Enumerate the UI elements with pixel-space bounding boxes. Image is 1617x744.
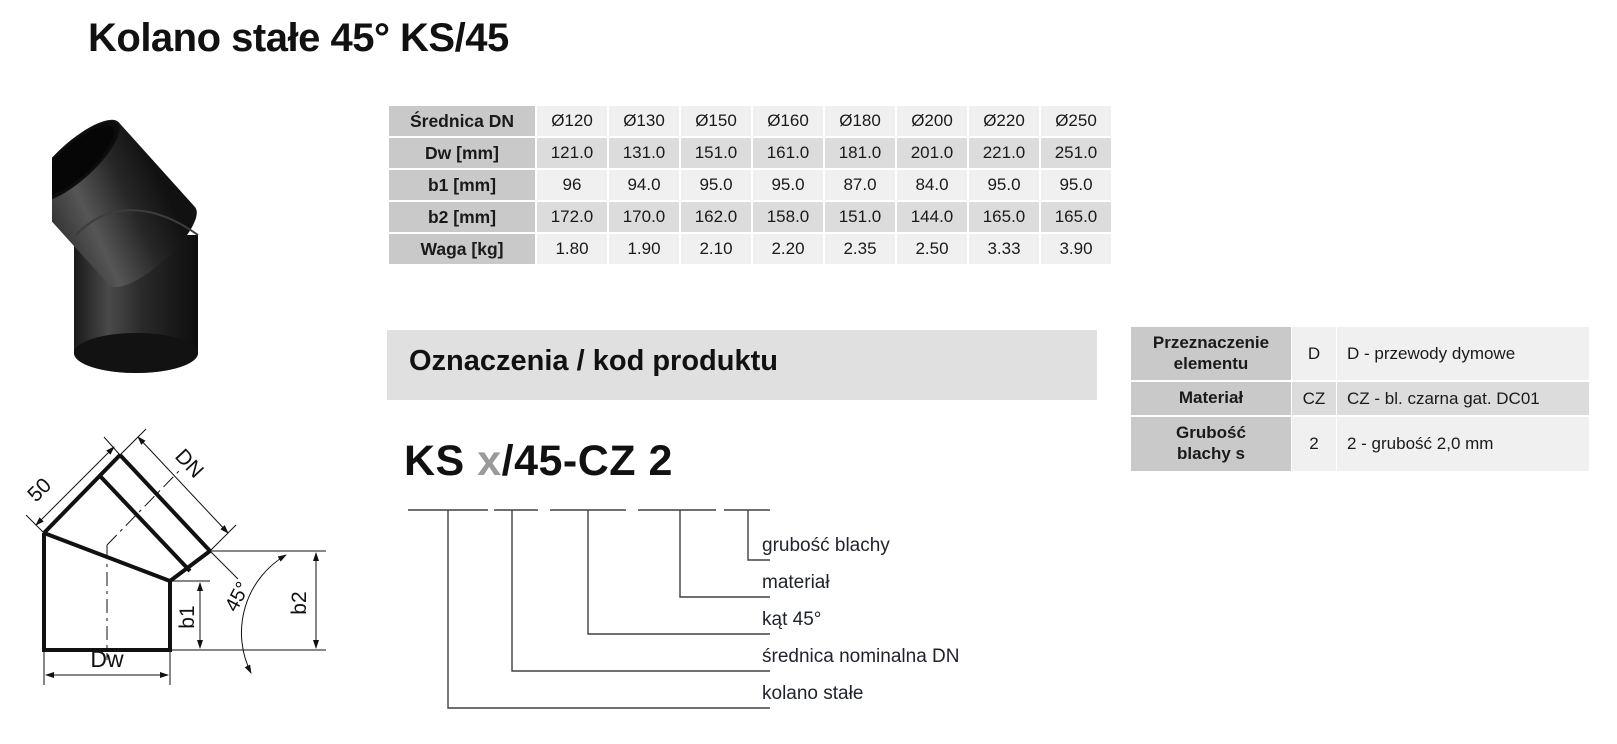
cell-waga-3: 2.20 xyxy=(753,234,823,264)
code-dash: - xyxy=(563,437,578,485)
callout-label-material: materiał xyxy=(762,572,830,594)
table-row: Materiał CZ CZ - bl. czarna gat. DC01 xyxy=(1131,382,1589,415)
legend-label-line1: Materiał xyxy=(1137,388,1285,409)
cell-waga-4: 2.35 xyxy=(825,234,895,264)
cell-dw-1: 131.0 xyxy=(609,138,679,168)
cell-b2-4: 151.0 xyxy=(825,202,895,232)
legend-code-2: 2 xyxy=(1292,417,1336,470)
technical-drawing: 50 DN b1 b2 xyxy=(14,385,359,690)
dim-label-50: 50 xyxy=(23,474,56,507)
cell-srednica-3: Ø160 xyxy=(753,106,823,136)
cell-b1-1: 94.0 xyxy=(609,170,679,200)
cell-waga-1: 1.90 xyxy=(609,234,679,264)
cell-dw-6: 221.0 xyxy=(969,138,1039,168)
cell-b2-3: 158.0 xyxy=(753,202,823,232)
code-variable: x xyxy=(477,437,501,485)
row-label-srednica: Średnica DN xyxy=(389,106,535,136)
row-label-dw: Dw [mm] xyxy=(389,138,535,168)
cell-b1-3: 95.0 xyxy=(753,170,823,200)
callout-leader-lines xyxy=(408,510,770,708)
oznaczenia-heading: Oznaczenia / kod produktu xyxy=(409,345,778,378)
elbow-graphic xyxy=(52,108,208,373)
legend-label-line2: blachy s xyxy=(1137,444,1285,465)
cell-waga-0: 1.80 xyxy=(537,234,607,264)
table-row: b1 [mm] 96 94.0 95.0 95.0 87.0 84.0 95.0… xyxy=(389,170,1111,200)
legend-label-grubosc: Grubość blachy s xyxy=(1131,417,1291,470)
callout-label-kolano-stale: kolano stałe xyxy=(762,683,863,705)
cell-srednica-2: Ø150 xyxy=(681,106,751,136)
page-title: Kolano stałe 45° KS/45 xyxy=(88,16,509,61)
row-label-b2: b2 [mm] xyxy=(389,202,535,232)
row-label-waga: Waga [kg] xyxy=(389,234,535,264)
callout-label-grubosc-blachy: grubość blachy xyxy=(762,535,890,557)
dim-label-b1: b1 xyxy=(176,605,199,628)
cell-dw-7: 251.0 xyxy=(1041,138,1111,168)
dimension-angle xyxy=(210,551,286,673)
legend-label-material: Materiał xyxy=(1131,382,1291,415)
code-material: CZ xyxy=(578,437,636,485)
table-row: Średnica DN Ø120 Ø130 Ø150 Ø160 Ø180 Ø20… xyxy=(389,106,1111,136)
cell-b2-1: 170.0 xyxy=(609,202,679,232)
product-photo xyxy=(52,95,342,385)
legend-code-d: D xyxy=(1292,327,1336,380)
cell-b1-4: 87.0 xyxy=(825,170,895,200)
callout-label-srednica-nominalna: średnica nominalna DN xyxy=(762,646,960,668)
product-code: KS x/45-CZ 2 xyxy=(404,437,673,486)
cell-b1-2: 95.0 xyxy=(681,170,751,200)
legend-label-line1: Grubość xyxy=(1137,423,1285,444)
dimension-dn xyxy=(120,429,236,551)
cell-b2-5: 144.0 xyxy=(897,202,967,232)
code-thickness: 2 xyxy=(649,437,673,485)
code-angle: 45 xyxy=(514,437,563,485)
cell-srednica-0: Ø120 xyxy=(537,106,607,136)
legend-desc-cz: CZ - bl. czarna gat. DC01 xyxy=(1337,382,1589,415)
table-row: b2 [mm] 172.0 170.0 162.0 158.0 151.0 14… xyxy=(389,202,1111,232)
cell-b1-5: 84.0 xyxy=(897,170,967,200)
cell-b2-7: 165.0 xyxy=(1041,202,1111,232)
cell-srednica-6: Ø220 xyxy=(969,106,1039,136)
cell-dw-5: 201.0 xyxy=(897,138,967,168)
legend-label-przeznaczenie: Przeznaczenie elementu xyxy=(1131,327,1291,380)
cell-waga-2: 2.10 xyxy=(681,234,751,264)
row-label-b1: b1 [mm] xyxy=(389,170,535,200)
cell-srednica-4: Ø180 xyxy=(825,106,895,136)
code-prefix: KS xyxy=(404,437,465,485)
table-row: Waga [kg] 1.80 1.90 2.10 2.20 2.35 2.50 … xyxy=(389,234,1111,264)
callout-label-kat-45: kąt 45° xyxy=(762,609,821,631)
dim-label-b2: b2 xyxy=(288,591,311,614)
cell-dw-0: 121.0 xyxy=(537,138,607,168)
legend-table: Przeznaczenie elementu D D - przewody dy… xyxy=(1130,325,1590,473)
cell-waga-5: 2.50 xyxy=(897,234,967,264)
cell-srednica-5: Ø200 xyxy=(897,106,967,136)
dim-label-angle: 45° xyxy=(221,578,255,615)
cell-srednica-7: Ø250 xyxy=(1041,106,1111,136)
cell-b1-6: 95.0 xyxy=(969,170,1039,200)
cell-waga-7: 3.90 xyxy=(1041,234,1111,264)
cell-waga-6: 3.33 xyxy=(969,234,1039,264)
cell-b2-2: 162.0 xyxy=(681,202,751,232)
callout-diagram: grubość blachy materiał kąt 45° średnica… xyxy=(398,500,1018,715)
cell-dw-2: 151.0 xyxy=(681,138,751,168)
legend-label-line2: elementu xyxy=(1137,354,1285,375)
cell-srednica-1: Ø130 xyxy=(609,106,679,136)
legend-desc-d: D - przewody dymowe xyxy=(1337,327,1589,380)
legend-code-cz: CZ xyxy=(1292,382,1336,415)
cell-dw-4: 181.0 xyxy=(825,138,895,168)
legend-desc-2: 2 - grubość 2,0 mm xyxy=(1337,417,1589,470)
legend-label-line1: Przeznaczenie xyxy=(1137,333,1285,354)
spec-table: Średnica DN Ø120 Ø130 Ø150 Ø160 Ø180 Ø20… xyxy=(387,104,1113,266)
dim-label-dw: Dw xyxy=(90,646,124,672)
datasheet-page: Kolano stałe 45° KS/45 xyxy=(0,0,1617,744)
table-row: Dw [mm] 121.0 131.0 151.0 161.0 181.0 20… xyxy=(389,138,1111,168)
cell-b1-7: 95.0 xyxy=(1041,170,1111,200)
cell-b1-0: 96 xyxy=(537,170,607,200)
cell-b2-0: 172.0 xyxy=(537,202,607,232)
code-separator: / xyxy=(502,437,514,485)
cell-dw-3: 161.0 xyxy=(753,138,823,168)
cell-b2-6: 165.0 xyxy=(969,202,1039,232)
table-row: Grubość blachy s 2 2 - grubość 2,0 mm xyxy=(1131,417,1589,470)
table-row: Przeznaczenie elementu D D - przewody dy… xyxy=(1131,327,1589,380)
